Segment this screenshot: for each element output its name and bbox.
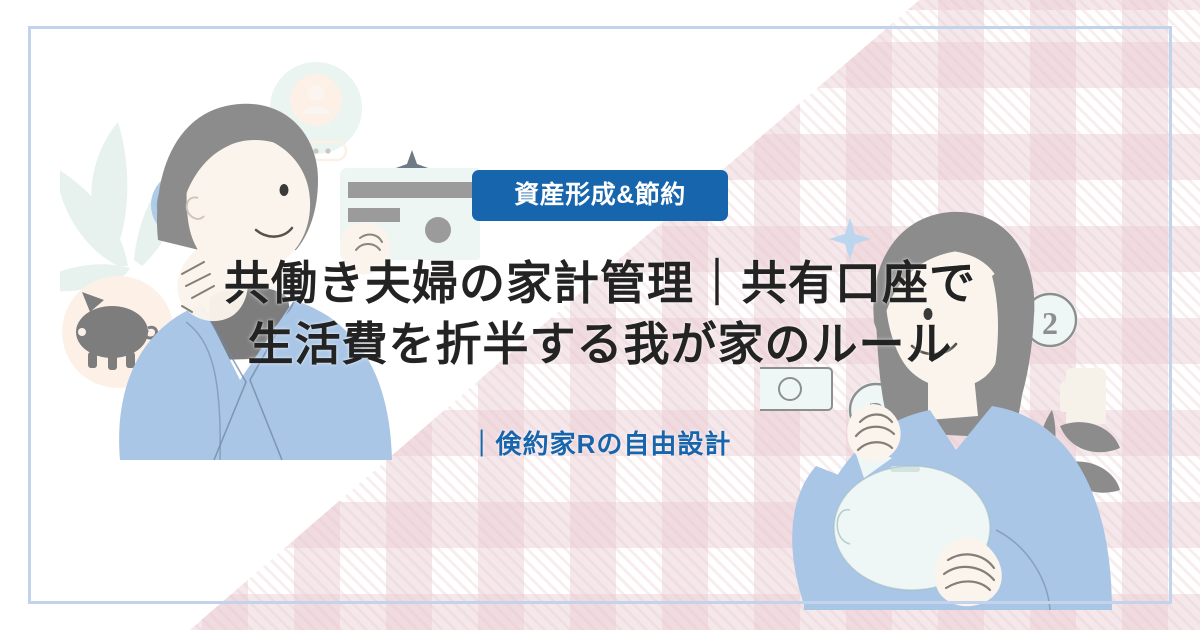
category-badge[interactable]: 資産形成&節約 — [472, 170, 728, 221]
cup-icon — [1060, 368, 1106, 424]
category-badge-label: 資産形成&節約 — [514, 183, 686, 208]
og-image-card: $ — [0, 0, 1200, 630]
page-title: 共働き夫婦の家計管理｜共有口座で 生活費を折半する我が家のルール — [0, 253, 1200, 374]
page-title-line-2: 生活費を折半する我が家のルール — [0, 314, 1200, 375]
site-subtitle: ｜倹約家Rの自由設計 — [0, 424, 1200, 461]
page-title-line-1: 共働き夫婦の家計管理｜共有口座で — [0, 253, 1200, 314]
